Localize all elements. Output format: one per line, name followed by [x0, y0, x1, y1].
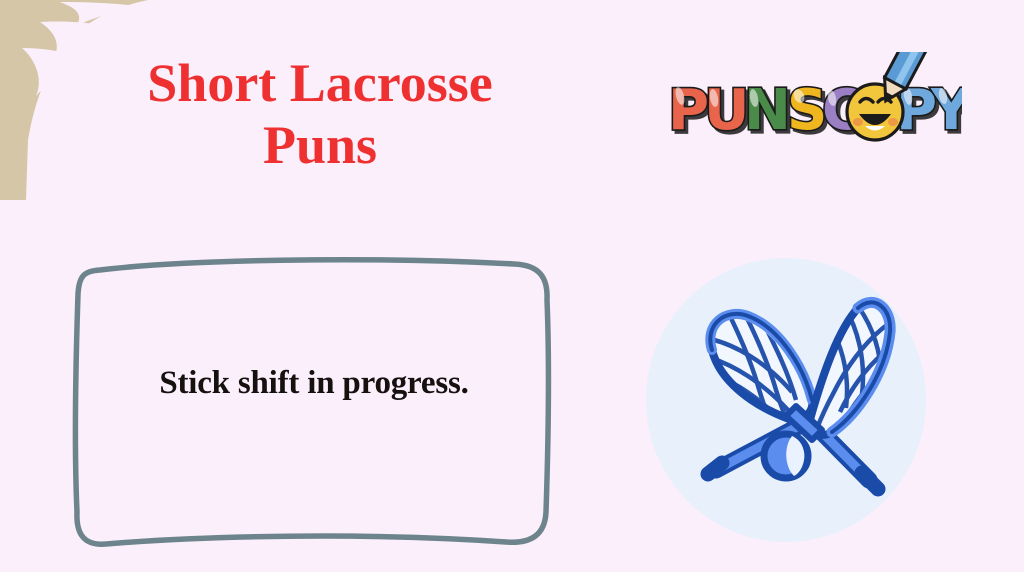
pun-text: Stick shift in progress.	[102, 234, 526, 534]
page-title-line-2: Puns	[60, 114, 580, 176]
lacrosse-head-right	[810, 302, 896, 442]
logo-letter-n: N	[744, 78, 791, 143]
pun-card: Stick shift in progress.	[62, 234, 566, 554]
page-title: Short Lacrosse Puns	[60, 52, 580, 176]
punscopy-logo[interactable]: .bl { font-family: "DejaVu Sans", sans-s…	[662, 52, 962, 152]
logo-letter-p1: P	[668, 78, 709, 143]
logo-letter-u: U	[704, 78, 749, 143]
lacrosse-ball	[764, 434, 808, 478]
lacrosse-illustration	[646, 258, 926, 542]
logo-letter-y: Y	[930, 78, 962, 143]
slide-canvas: Short Lacrosse Puns .bl { font-family: "…	[0, 0, 1024, 572]
page-title-line-1: Short Lacrosse	[60, 52, 580, 114]
crossed-lacrosse-sticks-icon	[646, 258, 926, 542]
